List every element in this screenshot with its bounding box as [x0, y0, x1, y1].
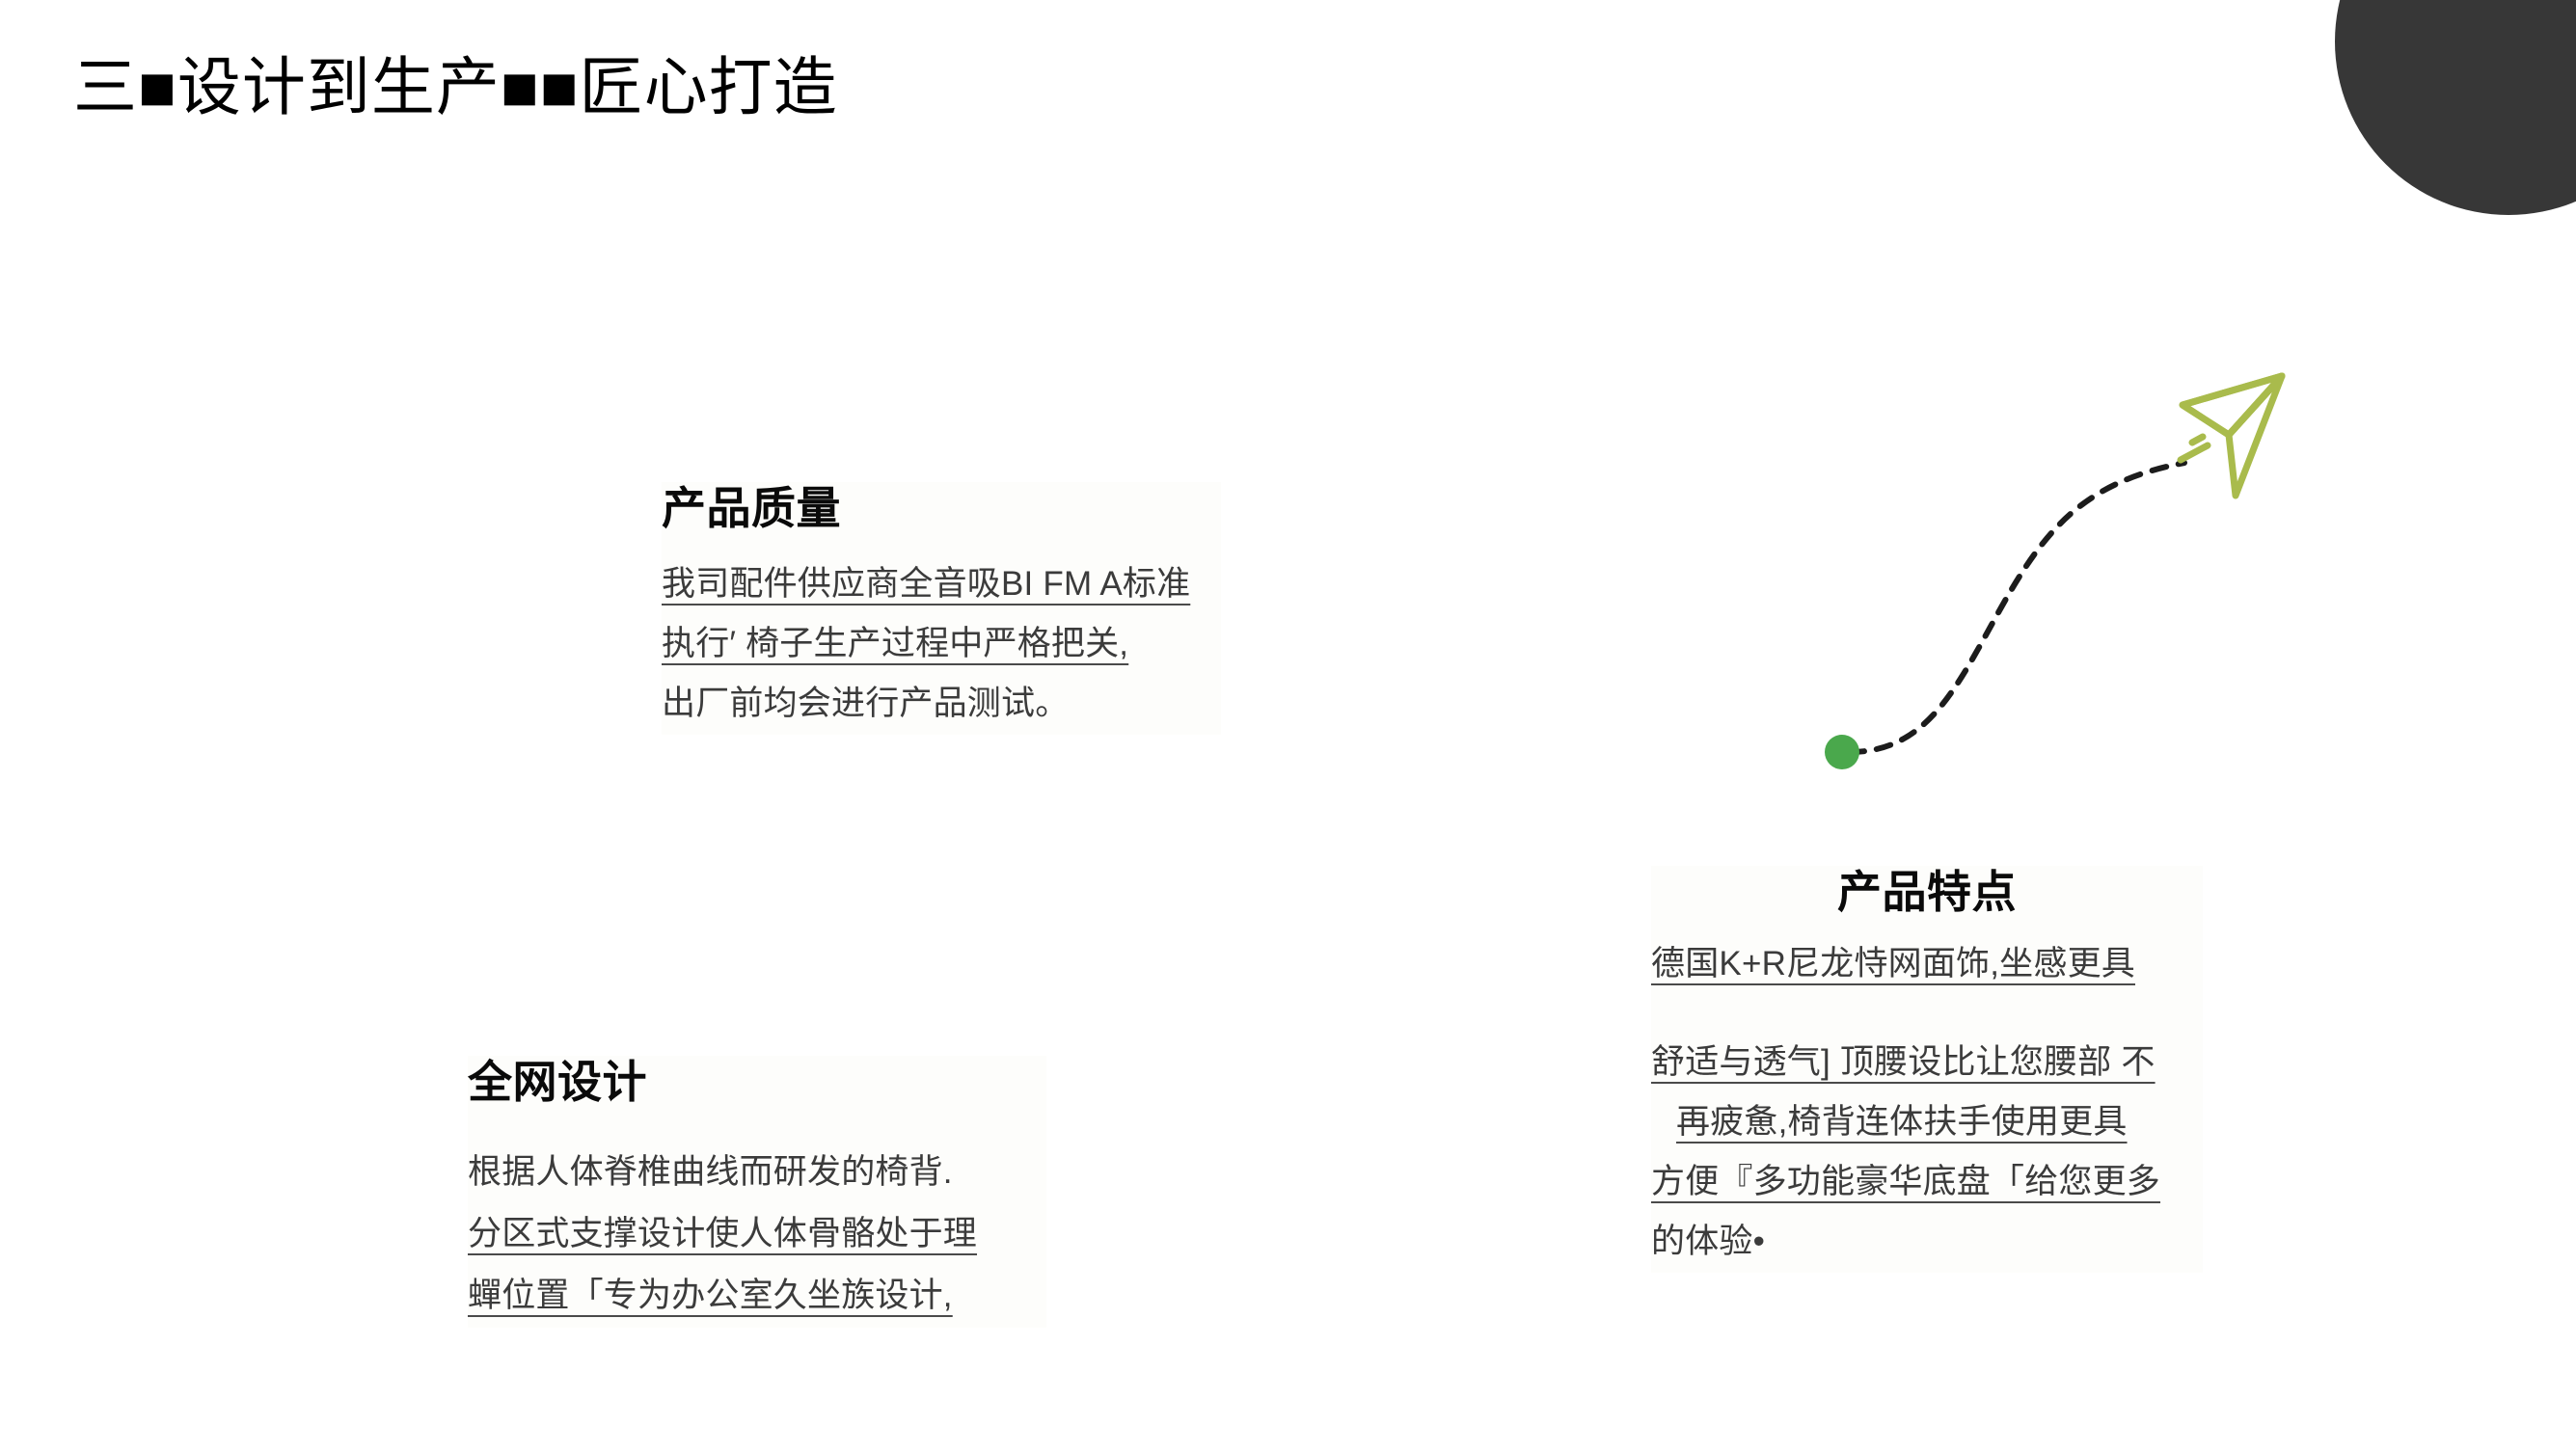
body-line: 德国K+R尼龙恃网面饰,坐感更具 [1651, 935, 2203, 995]
block-heading-product-quality: 产品质量 [662, 482, 1221, 534]
body-line: 执行′ 椅子生产过程中严格把关, [662, 615, 1221, 675]
block-body-product-features: 德国K+R尼龙恃网面饰,坐感更具 舒适与透气] 顶腰设比让您腰部 不 再疲惫,椅… [1651, 935, 2203, 1273]
block-heading-product-features: 产品特点 [1651, 866, 2203, 918]
body-line: 再疲惫,椅背连体扶手使用更具 [1651, 1093, 2203, 1153]
text-block-product-features: 产品特点 德国K+R尼龙恃网面饰,坐感更具 舒适与透气] 顶腰设比让您腰部 不 … [1651, 866, 2203, 1273]
dashed-trail-icon [1850, 463, 2184, 752]
page-title: 三■设计到生产■■匠心打造 [73, 55, 838, 121]
slide-canvas: 三■设计到生产■■匠心打造 产品质量 我司配件供应商全音吸BI FM A标准 执… [0, 0, 2576, 1453]
paper-plane-icon [2183, 376, 2282, 496]
text-block-full-mesh-design: 全网设计 根据人体脊椎曲线而研发的椅背. 分区式支撑设计使人体骨骼处于理 蟬位置… [468, 1056, 1046, 1328]
paper-plane-illustration [1813, 366, 2295, 771]
body-line: 我司配件供应商全音吸BI FM A标准 [662, 555, 1221, 615]
block-heading-full-mesh-design: 全网设计 [468, 1056, 1046, 1108]
body-line: 舒适与透气] 顶腰设比让您腰部 不 [1651, 1034, 2203, 1093]
corner-circle-decoration [2335, 0, 2576, 215]
block-body-product-quality: 我司配件供应商全音吸BI FM A标准 执行′ 椅子生产过程中严格把关, 出厂前… [662, 555, 1221, 735]
block-body-full-mesh-design: 根据人体脊椎曲线而研发的椅背. 分区式支撑设计使人体骨骼处于理 蟬位置「专为办公… [468, 1143, 1046, 1328]
green-dot-icon [1825, 735, 1859, 769]
body-line: 出厂前均会进行产品测试。 [662, 675, 1221, 735]
body-line: 的体验• [1651, 1213, 2203, 1273]
body-line: 蟬位置「专为办公室久坐族设计, [468, 1266, 1046, 1328]
text-block-product-quality: 产品质量 我司配件供应商全音吸BI FM A标准 执行′ 椅子生产过程中严格把关… [662, 482, 1221, 735]
body-line: 根据人体脊椎曲线而研发的椅背. [468, 1143, 1046, 1204]
body-line: 分区式支撑设计使人体骨骼处于理 [468, 1204, 1046, 1266]
speed-lines-icon [2181, 437, 2208, 460]
body-line: 方便『多功能豪华底盘「给您更多 [1651, 1153, 2203, 1213]
